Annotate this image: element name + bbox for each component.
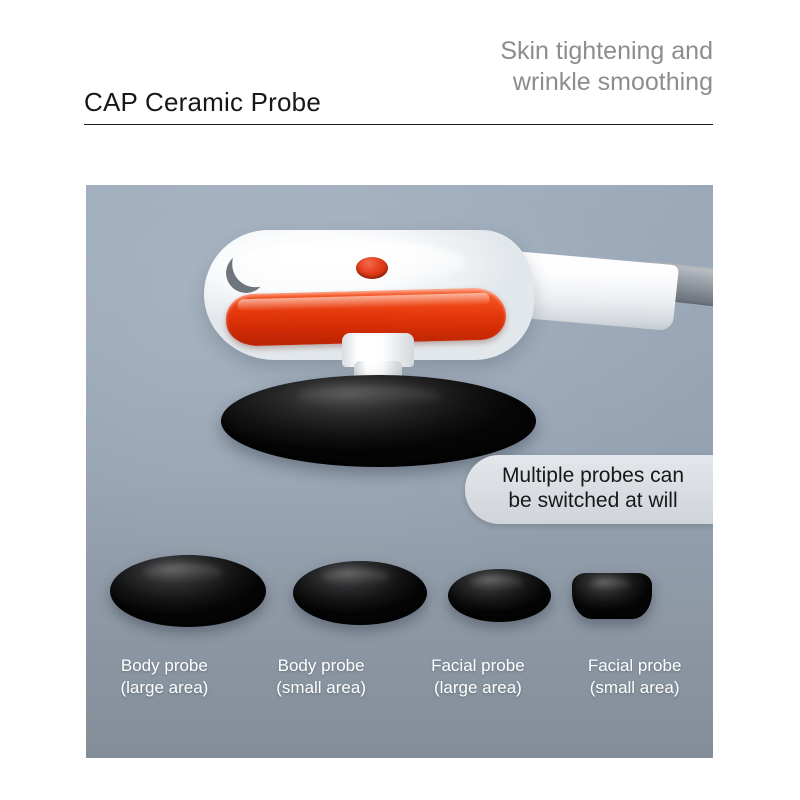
probe-body-probe-large <box>110 555 266 627</box>
probe-label-facial-probe-large: Facial probe (large area) <box>400 655 557 699</box>
page-header: CAP Ceramic Probe Skin tightening and wr… <box>84 36 713 124</box>
probe-label-body-probe-small: Body probe (small area) <box>243 655 400 699</box>
probe-facial-probe-large <box>448 569 551 622</box>
probe-body-probe-small <box>293 561 427 625</box>
header-divider <box>84 124 713 125</box>
probe-label-row: Body probe (large area) Body probe (smal… <box>86 655 713 699</box>
probe-facial-probe-small <box>572 573 652 619</box>
callout-multiple-probes: Multiple probes can be switched at will <box>465 455 713 524</box>
page-title: CAP Ceramic Probe <box>84 87 321 118</box>
device-head-highlight <box>236 241 466 285</box>
probe-label-body-probe-large: Body probe (large area) <box>86 655 243 699</box>
product-photo-panel: Multiple probes can be switched at will … <box>86 185 713 758</box>
probe-lineup <box>86 547 713 652</box>
probe-label-facial-probe-small: Facial probe (small area) <box>556 655 713 699</box>
attached-body-probe-disc <box>221 375 536 467</box>
device-power-button <box>356 257 388 279</box>
header-tagline: Skin tightening and wrinkle smoothing <box>500 36 713 97</box>
